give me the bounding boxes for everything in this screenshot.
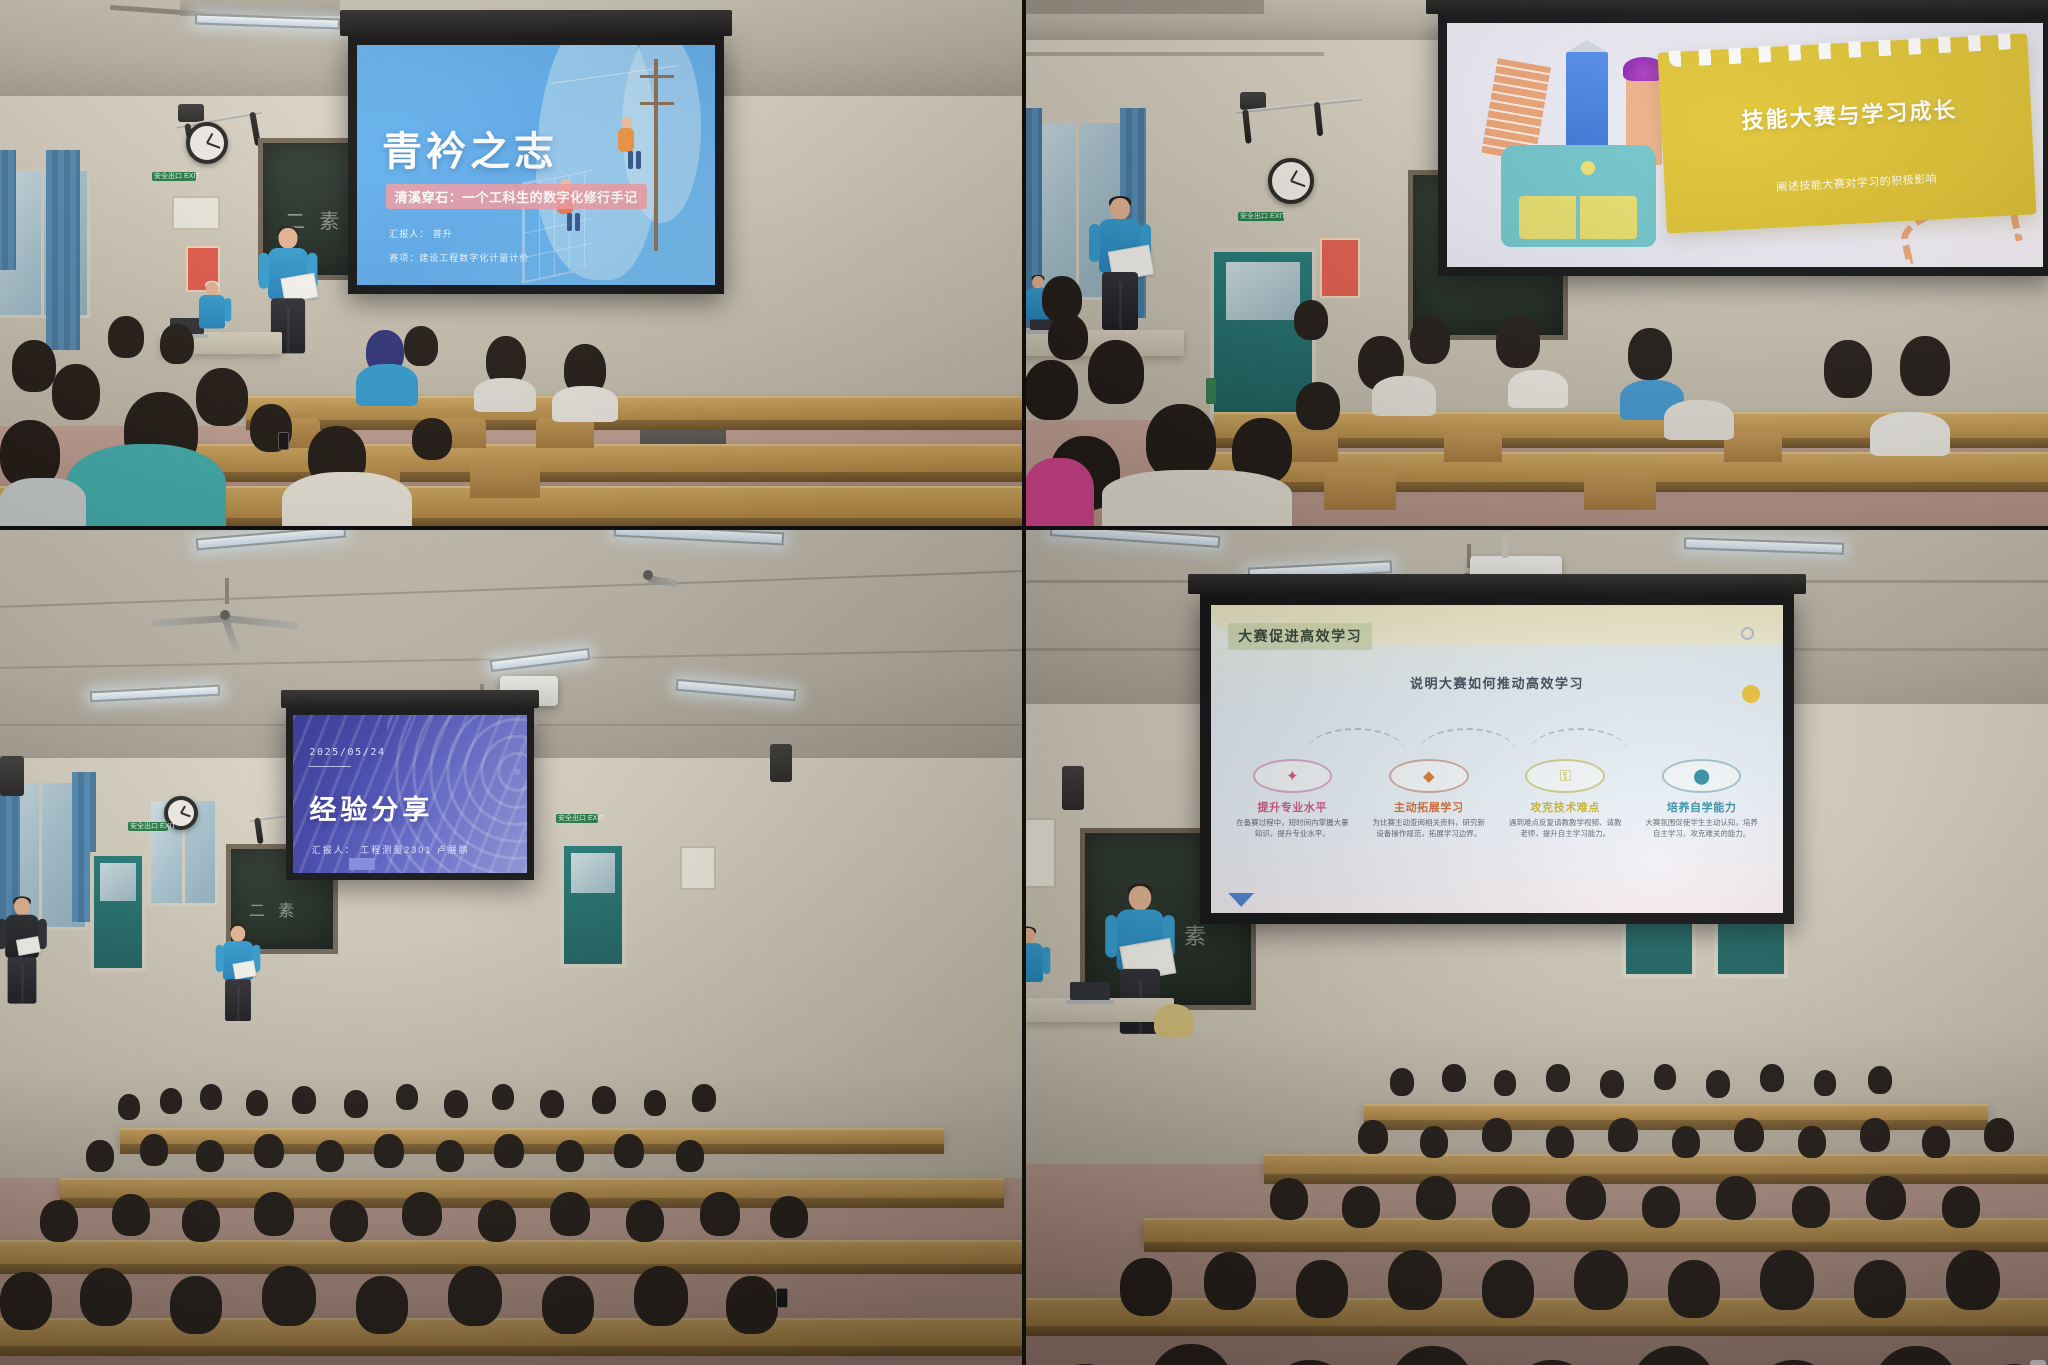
audience-member (196, 1140, 224, 1172)
sparkle-icon: ✦ (1253, 759, 1333, 793)
audience-member (344, 1090, 368, 1118)
wall-clock (1268, 158, 1314, 204)
audience-member (1672, 1126, 1700, 1158)
audience-member (1600, 1070, 1624, 1098)
smartphone (278, 432, 289, 450)
audience-member (1482, 1260, 1534, 1318)
audience-member (1410, 316, 1450, 364)
audience-member (1760, 1064, 1784, 1092)
notice-board (1024, 818, 1056, 888)
audience-member (246, 1090, 268, 1116)
head (231, 926, 245, 942)
audience-member (160, 1088, 182, 1114)
slide-ribbon-subtitle: 清溪穿石：一个工科生的数字化修行手记 (386, 184, 647, 209)
audience-member (0, 1272, 52, 1330)
audience-member (254, 1134, 284, 1168)
audience-member (1734, 1118, 1764, 1152)
audience-member (542, 1276, 594, 1334)
chair-back (1444, 432, 1502, 462)
audience-member (1358, 1120, 1388, 1154)
audience-member (118, 1094, 140, 1120)
audience-member (1716, 1176, 1756, 1220)
slide-credit: 汇报人： 工程测量2301 卢展鹏 (312, 843, 470, 856)
head (279, 228, 298, 249)
key-icon: ⚿ (1525, 759, 1605, 793)
audience-member (262, 1266, 316, 1326)
audience-member (1574, 1250, 1628, 1310)
projection-screen: 2025/05/24 经验分享 汇报人： 工程测量2301 卢展鹏 (286, 708, 534, 880)
audience-member (550, 1192, 590, 1236)
audience-member (356, 1276, 408, 1334)
curtain (0, 150, 16, 270)
curtain (46, 150, 80, 350)
screen-housing (340, 10, 731, 36)
chair-back (470, 462, 540, 498)
head (1110, 198, 1130, 220)
panel-top-left: 安全出口 EXIT 二 素 (0, 0, 1024, 528)
slide-event: 赛项：建设工程数字化计量计价 (389, 251, 529, 264)
screen-housing (1426, 0, 2048, 14)
ceiling-fan (618, 568, 678, 582)
screen-frame: 2025/05/24 经验分享 汇报人： 工程测量2301 卢展鹏 (286, 708, 534, 880)
screen-frame: 青衿之志 清溪穿石：一个工科生的数字化修行手记 汇报人： 普升 赛项：建设工程数… (348, 36, 724, 294)
desk-row (160, 444, 1024, 472)
audience-member (402, 1192, 442, 1236)
screen-housing (281, 690, 539, 708)
audience-member (726, 1276, 778, 1334)
speaker (0, 756, 24, 796)
slide-subtitle: 说明大赛如何推动高效学习 (1211, 673, 1783, 692)
audience-member (1628, 328, 1672, 380)
audience-member (1024, 360, 1078, 420)
audience-member (1390, 1068, 1414, 1096)
backpack-illustration (1501, 145, 1656, 247)
audience-member (1608, 1118, 1638, 1152)
pin-icon: ⬤ (1662, 759, 1742, 793)
slide-content: 大赛促进高效学习 说明大赛如何推动高效学习 ✦ (1211, 605, 1783, 913)
chair-back (536, 418, 594, 448)
audience-member (1866, 1176, 1906, 1220)
audience-member (1088, 340, 1144, 404)
audience-member (1566, 1176, 1606, 1220)
slide-title: 青衿之志 (382, 119, 558, 177)
screen-frame: 技能大赛与学习成长 阐述技能大赛对学习的积极影响 (1438, 14, 2048, 276)
audience-member (1946, 1250, 2000, 1310)
audience-member (1204, 1252, 1256, 1310)
bottle (1206, 378, 1216, 404)
audience-member (254, 1192, 294, 1236)
conduit (1024, 52, 1324, 56)
poster (1320, 238, 1360, 298)
slide-subtitle: 阐述技能大赛对学习的积极影响 (1708, 168, 2004, 198)
chalk-text: 二 素 (249, 897, 298, 921)
audience-member (436, 1140, 464, 1172)
audience-member (1416, 1176, 1456, 1220)
slide-columns: ✦ 提升专业水平 在备赛过程中，短时间内掌握大量知识，提升专业水平。 ◆ 主动拓… (1228, 759, 1766, 901)
notice-board (172, 196, 220, 230)
exit-sign: 安全出口 EXIT (128, 822, 168, 831)
exit-sign: 安全出口 EXIT (152, 172, 196, 181)
chair-back (1324, 472, 1396, 510)
audience-member (492, 1084, 514, 1110)
audience-member (1824, 340, 1872, 398)
audience-member (770, 1196, 808, 1238)
head (1129, 886, 1151, 911)
audience-member (1798, 1126, 1826, 1158)
audience-member (448, 1266, 502, 1326)
screen-frame: 大赛促进高效学习 说明大赛如何推动高效学习 ✦ (1200, 594, 1794, 924)
audience-member (160, 324, 194, 364)
slide-section-tag: 大赛促进高效学习 (1228, 623, 1372, 650)
audience-member (1854, 1260, 1906, 1318)
audience-member (1120, 1258, 1172, 1316)
audience-member (1868, 1066, 1892, 1094)
speaker (770, 744, 792, 782)
slide-column: ◆ 主动拓展学习 为比赛主动查阅相关资料，研究新设备操作规范，拓展学习边界。 (1365, 759, 1493, 901)
audience-member (700, 1192, 740, 1236)
audience-member (692, 1084, 716, 1112)
slide-column: ⬤ 培养自学能力 大赛氛围促使学生主动认知，培养自主学习、攻克难关的能力。 (1637, 759, 1765, 901)
projection-screen: 大赛促进高效学习 说明大赛如何推动高效学习 ✦ (1200, 594, 1794, 924)
projector-mount (1502, 532, 1508, 558)
door (90, 852, 146, 972)
photo-collage: 安全出口 EXIT 二 素 (0, 0, 2048, 1365)
audience-member (556, 1140, 584, 1172)
column-heading: 攻克技术难点 (1501, 799, 1629, 815)
audience-member (1760, 1250, 1814, 1310)
audience-member (644, 1090, 666, 1116)
note-card: 技能大赛与学习成长 阐述技能大赛对学习的积极影响 (1657, 33, 2035, 233)
audience-member (1814, 1070, 1836, 1096)
exit-sign: 安全出口 EXIT (556, 814, 598, 823)
ceiling-duct (1024, 0, 1264, 14)
slide-content: 2025/05/24 经验分享 汇报人： 工程测量2301 卢展鹏 (293, 715, 527, 873)
collage-seam-vertical (1022, 0, 1026, 528)
projection-screen: 技能大赛与学习成长 阐述技能大赛对学习的积极影响 (1438, 14, 2048, 276)
connector-arcs (1280, 728, 1726, 753)
audience-member (1494, 1070, 1516, 1096)
column-body: 为比赛主动查阅相关资料，研究新设备操作规范，拓展学习边界。 (1365, 818, 1493, 840)
audience-member (676, 1140, 704, 1172)
audience-member (1984, 1118, 2014, 1152)
audience-member (1482, 1118, 1512, 1152)
column-heading: 主动拓展学习 (1365, 799, 1493, 815)
audience-member (112, 1194, 150, 1236)
door (560, 842, 626, 968)
audience-member (1922, 1126, 1950, 1158)
slide-content: 技能大赛与学习成长 阐述技能大赛对学习的积极影响 (1447, 23, 2043, 267)
audience-member (182, 1200, 220, 1242)
screen-housing (1188, 574, 1806, 594)
decorative-dot-icon (1741, 627, 1754, 640)
audience-member (1860, 1118, 1890, 1152)
audience-member (1294, 300, 1328, 340)
slide-column: ✦ 提升专业水平 在备赛过程中，短时间内掌握大量知识，提升专业水平。 (1228, 759, 1356, 901)
projection-screen: 青衿之志 清溪穿石：一个工科生的数字化修行手记 汇报人： 普升 赛项：建设工程数… (348, 36, 724, 294)
audience-member (374, 1134, 404, 1168)
audience-member (634, 1266, 688, 1326)
audience-member (330, 1200, 368, 1242)
audience-member (40, 1200, 78, 1242)
audience-member (1492, 1186, 1530, 1228)
audience-member (1420, 1126, 1448, 1158)
audience-member (1296, 382, 1340, 430)
audience-member (1388, 1250, 1442, 1310)
audience-member (412, 418, 452, 460)
audience-member (540, 1090, 564, 1118)
audience-member (1642, 1186, 1680, 1228)
audience-member (1296, 1260, 1348, 1318)
audience-member (1900, 336, 1950, 396)
audience-member (1792, 1186, 1830, 1228)
audience-member (1546, 1126, 1574, 1158)
audience-member (626, 1200, 664, 1242)
audience-member (1442, 1064, 1466, 1092)
laptop (1070, 982, 1110, 1000)
audience-member (396, 1084, 418, 1110)
column-heading: 提升专业水平 (1228, 799, 1356, 815)
audience-member (592, 1086, 616, 1114)
panel-bottom-right: 安全出口 EXIT 二 素 大赛促进高效学习 说明大赛如何推动高效学习 (1024, 528, 2048, 1365)
panel-top-right: 安全出口 EXIT 二 素 (1024, 0, 2048, 528)
audience-member (1546, 1064, 1570, 1092)
ceiling-fan (150, 604, 300, 626)
column-body: 在备赛过程中，短时间内掌握大量知识，提升专业水平。 (1228, 818, 1356, 840)
audience-member (444, 1090, 468, 1118)
audience-member (1342, 1186, 1380, 1228)
notice-board (680, 846, 716, 890)
column-body: 遇到难点反复请教教学视频、请教老师，提升自主学习能力。 (1501, 818, 1629, 840)
column-heading: 培养自学能力 (1637, 799, 1765, 815)
audience-member (196, 368, 248, 426)
audience-member (316, 1140, 344, 1172)
audience-member (494, 1134, 524, 1168)
wall-clock (186, 122, 228, 164)
slide-title: 经验分享 (309, 788, 433, 827)
audience-member (200, 1084, 222, 1110)
audience-member (292, 1086, 316, 1114)
audience-member (1668, 1260, 1720, 1318)
audience-member (1048, 314, 1088, 360)
audience-member (52, 364, 100, 420)
slide-content: 青衿之志 清溪穿石：一个工科生的数字化修行手记 汇报人： 普升 赛项：建设工程数… (357, 45, 715, 285)
audience-member (1496, 316, 1540, 368)
column-body: 大赛氛围促使学生主动认知，培养自主学习、攻克难关的能力。 (1637, 818, 1765, 840)
audience-member (170, 1276, 222, 1334)
audience-member (404, 326, 438, 366)
audience-member (86, 1140, 114, 1172)
exit-sign: 安全出口 EXIT (1238, 212, 1284, 221)
audience-member (140, 1134, 168, 1166)
audience-member (1706, 1070, 1730, 1098)
smartphone (776, 1288, 788, 1308)
audience-member (478, 1200, 516, 1242)
utility-pole-illustration (654, 59, 658, 251)
speaker (178, 104, 204, 122)
slide-presenter: 汇报人： 普升 (389, 227, 453, 240)
audience-member (12, 340, 56, 392)
audience-member (614, 1134, 644, 1168)
speaker (1062, 766, 1084, 810)
diamond-icon: ◆ (1389, 759, 1469, 793)
audience-member (80, 1268, 132, 1326)
slide-column: ⚿ 攻克技术难点 遇到难点反复请教教学视频、请教老师，提升自主学习能力。 (1501, 759, 1629, 901)
audience-member (1146, 404, 1216, 480)
chair-back (1584, 472, 1656, 510)
collage-seam-vertical (1022, 528, 1026, 1365)
audience-member (1942, 1186, 1980, 1228)
audience-member (1270, 1178, 1308, 1220)
slide-date: 2025/05/24 (309, 747, 385, 758)
slide-title: 技能大赛与学习成长 (1690, 95, 2009, 138)
water-bottle (2030, 1360, 2046, 1365)
panel-bottom-left: 安全出口 EXIT 安全出口 EXIT 二 素 202 (0, 528, 1024, 1365)
audience-member (108, 316, 144, 358)
audience-member (1654, 1064, 1676, 1090)
